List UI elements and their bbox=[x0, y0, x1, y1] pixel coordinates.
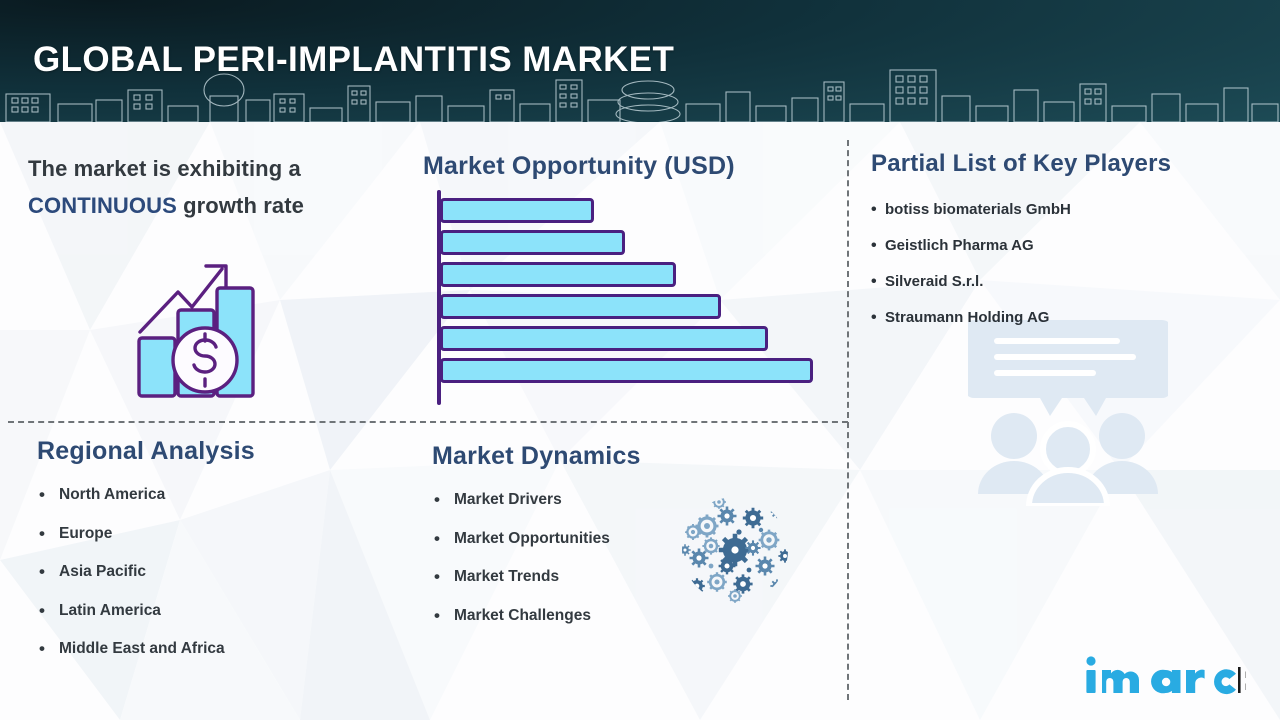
market-opportunity-chart bbox=[437, 190, 837, 405]
market-opportunity-block: Market Opportunity (USD) bbox=[423, 152, 843, 181]
page-title: GLOBAL PERI-IMPLANTITIS MARKET bbox=[33, 40, 674, 80]
continuous-highlight: CONTINUOUS bbox=[28, 193, 177, 218]
list-item: North America bbox=[37, 476, 417, 515]
regional-analysis-list: North America Europe Asia Pacific Latin … bbox=[37, 476, 417, 669]
growth-bar-chart-dollar-icon bbox=[130, 252, 270, 400]
header-banner: GLOBAL PERI-IMPLANTITIS MARKET bbox=[0, 0, 1280, 122]
list-item: botiss biomaterials GmbH bbox=[871, 192, 1271, 228]
chart-bar bbox=[440, 294, 721, 319]
chart-bar bbox=[440, 326, 768, 351]
growth-statement-line1: The market is exhibiting a bbox=[28, 150, 428, 187]
infographic-slide: GLOBAL PERI-IMPLANTITIS MARKET The marke… bbox=[0, 0, 1280, 720]
list-item: Europe bbox=[37, 515, 417, 554]
growth-statement-line2: CONTINUOUS growth rate bbox=[28, 187, 428, 224]
chart-bar bbox=[440, 198, 594, 223]
imarc-logo: IMPACTFUL INSIGHTS bbox=[1078, 655, 1246, 699]
market-dynamics-heading: Market Dynamics bbox=[432, 442, 772, 471]
speech-bubble-people-icon bbox=[968, 316, 1168, 506]
chart-bar bbox=[440, 262, 676, 287]
chart-bar bbox=[440, 358, 813, 383]
chart-bar bbox=[440, 230, 625, 255]
regional-analysis-heading: Regional Analysis bbox=[37, 437, 417, 466]
list-item: Middle East and Africa bbox=[37, 630, 417, 669]
logo-tagline-insights: INSIGHTS bbox=[1245, 682, 1246, 693]
growth-statement-block: The market is exhibiting a CONTINUOUS gr… bbox=[28, 150, 428, 224]
horizontal-divider bbox=[8, 421, 848, 423]
logo-tagline-impactful: IMPACTFUL bbox=[1245, 670, 1246, 681]
list-item: Latin America bbox=[37, 592, 417, 631]
list-item: Asia Pacific bbox=[37, 553, 417, 592]
key-players-heading: Partial List of Key Players bbox=[871, 150, 1271, 178]
vertical-divider bbox=[847, 140, 849, 700]
gears-circle-icon bbox=[681, 496, 789, 604]
regional-analysis-block: Regional Analysis North America Europe A… bbox=[37, 437, 417, 669]
key-players-block: Partial List of Key Players botiss bioma… bbox=[871, 150, 1271, 336]
list-item: Silveraid S.r.l. bbox=[871, 264, 1271, 300]
list-item: Straumann Holding AG bbox=[871, 300, 1271, 336]
key-players-list: botiss biomaterials GmbH Geistlich Pharm… bbox=[871, 192, 1271, 336]
growth-rate-text: growth rate bbox=[177, 193, 304, 218]
list-item: Geistlich Pharma AG bbox=[871, 228, 1271, 264]
market-opportunity-heading: Market Opportunity (USD) bbox=[423, 152, 843, 181]
